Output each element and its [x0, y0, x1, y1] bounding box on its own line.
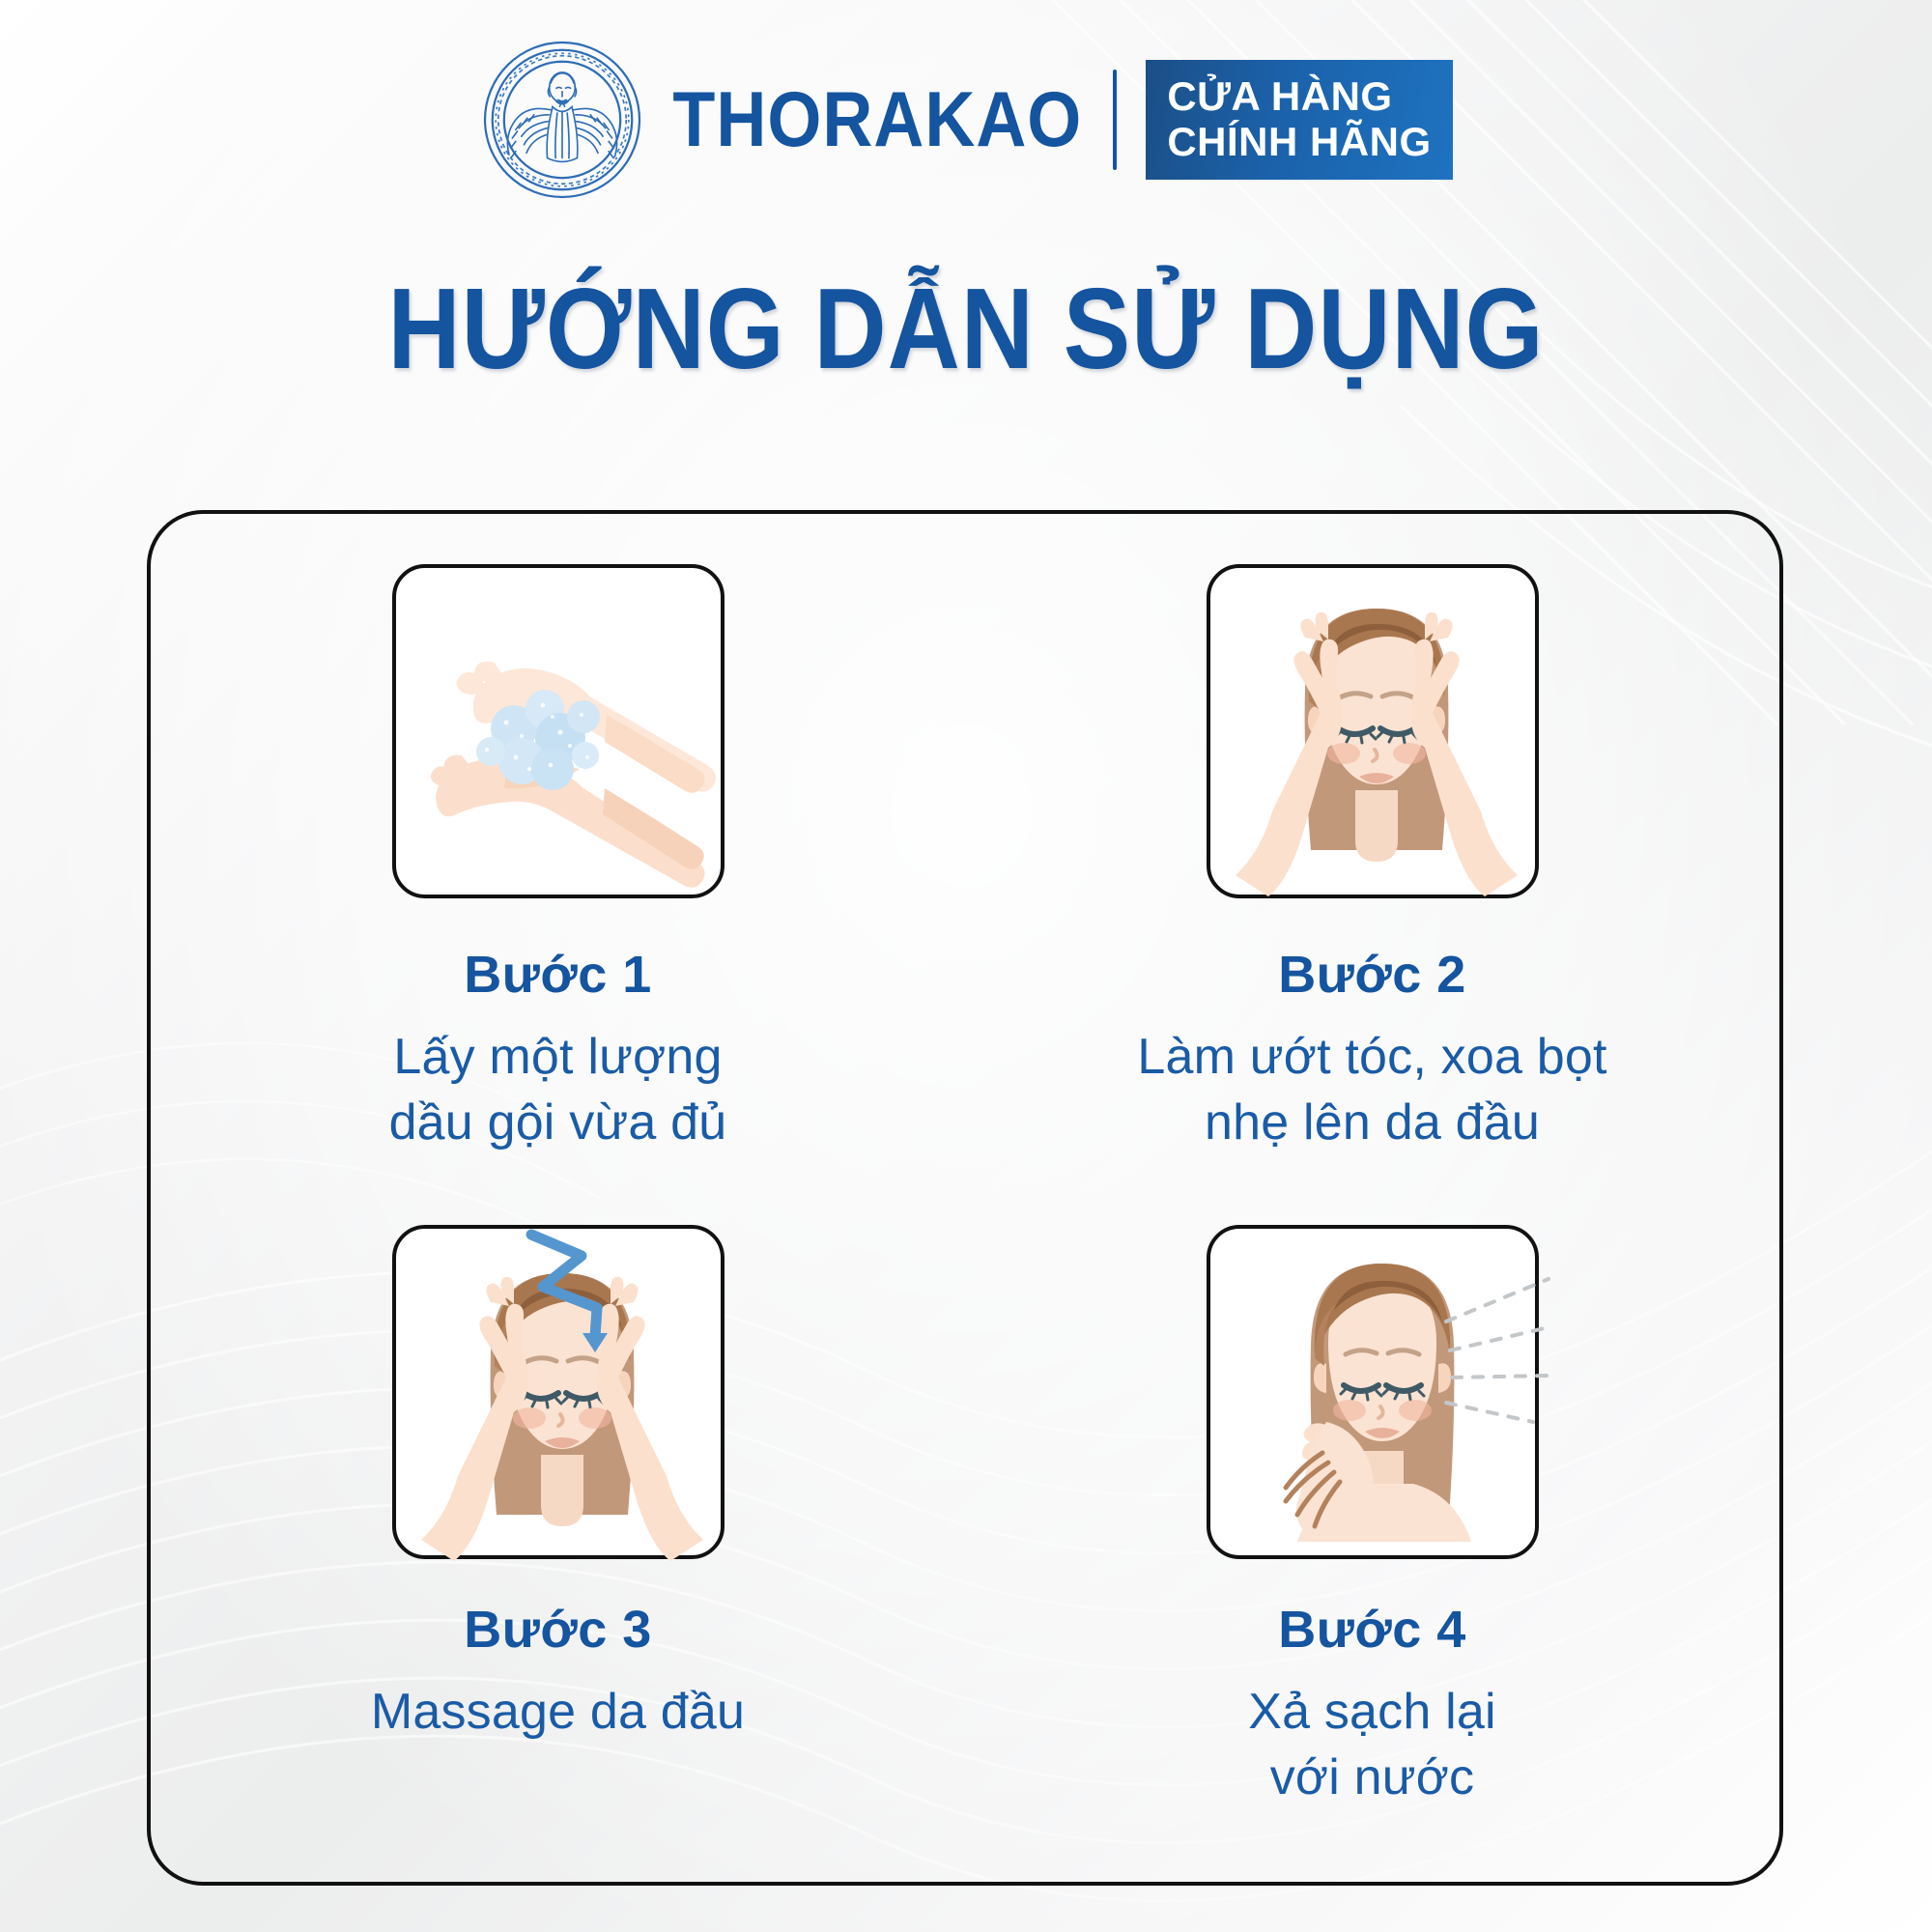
step-3: Bước 3 Massage da đầu: [151, 1198, 965, 1882]
step-3-name: Bước 3: [464, 1602, 652, 1659]
woman-rinsing-hair-icon: [1205, 1223, 1548, 1569]
thorakao-angel-emblem-icon: [479, 37, 645, 203]
woman-scalp-massage-arrow-icon: [390, 1223, 734, 1569]
step-4-description: Xả sạch lại với nước: [1248, 1680, 1496, 1810]
step-2-thumbnail: [1207, 564, 1539, 898]
step-3-description: Massage da đầu: [371, 1680, 745, 1746]
step-2-name: Bước 2: [1278, 947, 1466, 1004]
step-4: Bước 4 Xả sạch lại với nước: [965, 1198, 1779, 1882]
step-1: Bước 1 Lấy một lượng dầu gội vừa đủ: [151, 514, 965, 1198]
step-2-description: Làm ướt tóc, xoa bọt nhẹ lên da đầu: [1137, 1025, 1606, 1155]
steps-grid: Bước 1 Lấy một lượng dầu gội vừa đủ: [151, 514, 1779, 1882]
page-title: HƯỚNG DẪN SỬ DỤNG: [0, 265, 1932, 396]
step-4-thumbnail: [1207, 1225, 1539, 1559]
step-4-name: Bước 4: [1278, 1602, 1466, 1659]
step-1-description: Lấy một lượng dầu gội vừa đủ: [389, 1025, 727, 1155]
step-1-thumbnail: [392, 564, 724, 898]
step-1-name: Bước 1: [464, 947, 652, 1004]
step-3-thumbnail: [392, 1225, 724, 1559]
step-2: Bước 2 Làm ướt tóc, xoa bọt nhẹ lên da đ…: [965, 514, 1779, 1198]
woman-wetting-hair-icon: [1205, 562, 1548, 908]
header-divider: [1113, 70, 1117, 170]
badge-line-1: CỬA HÀNG: [1167, 73, 1431, 119]
badge-line-2: CHÍNH HÃNG: [1167, 119, 1431, 164]
brand-header: THORAKAO CỬA HÀNG CHÍNH HÃNG: [0, 37, 1932, 203]
brand-wordmark: THORAKAO: [672, 81, 1082, 159]
hands-with-foam-icon: [390, 562, 734, 908]
authorized-store-badge: CỬA HÀNG CHÍNH HÃNG: [1146, 60, 1452, 180]
instructions-frame: Bước 1 Lấy một lượng dầu gội vừa đủ: [147, 510, 1783, 1886]
